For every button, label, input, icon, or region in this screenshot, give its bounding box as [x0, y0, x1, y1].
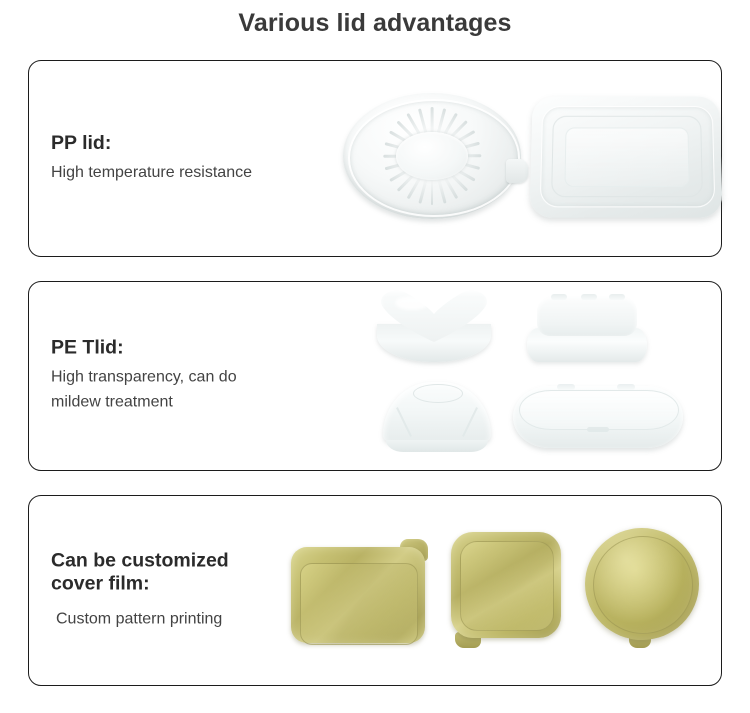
round-pp-lid-center [396, 132, 467, 180]
card-pp-lid: PP lid: High temperature resistance [28, 60, 722, 257]
round-dome-pe-lid-cup [383, 382, 491, 444]
rectangular-pp-lid-body [529, 97, 722, 218]
rectangular-gold-foil-lid-body [291, 547, 425, 643]
rectangular-gold-foil-lid-image [291, 539, 425, 643]
round-pp-lid-tab [506, 159, 528, 183]
heart-pe-lid-image [375, 290, 493, 362]
square-dome-pe-lid-image [527, 296, 647, 362]
square-dome-pe-lid-cap [537, 296, 637, 336]
round-gold-foil-lid-image [585, 528, 699, 648]
card-cover-film: Can be customized cover film: Custom pat… [28, 495, 722, 686]
heart-pe-lid-highlight [395, 296, 429, 310]
square-gold-foil-lid-image [451, 532, 561, 648]
card-pe-lid: PE Tlid: High transparency, can do milde… [28, 281, 722, 471]
card-pp-lid-figures [279, 61, 715, 256]
round-dome-pe-lid-foot [386, 440, 488, 452]
rectangular-pp-lid-image [531, 95, 721, 217]
card-pe-lid-figures [279, 282, 715, 470]
oval-pe-lid-inner [519, 390, 679, 430]
page-title: Various lid advantages [0, 9, 750, 38]
oval-pe-lid-image [513, 386, 683, 448]
round-dome-pe-lid-image [383, 382, 491, 452]
square-gold-foil-lid-body [451, 532, 561, 638]
round-gold-foil-lid-body [585, 528, 699, 640]
card-cover-film-figures [279, 496, 715, 685]
round-pp-lid-image [343, 93, 521, 219]
